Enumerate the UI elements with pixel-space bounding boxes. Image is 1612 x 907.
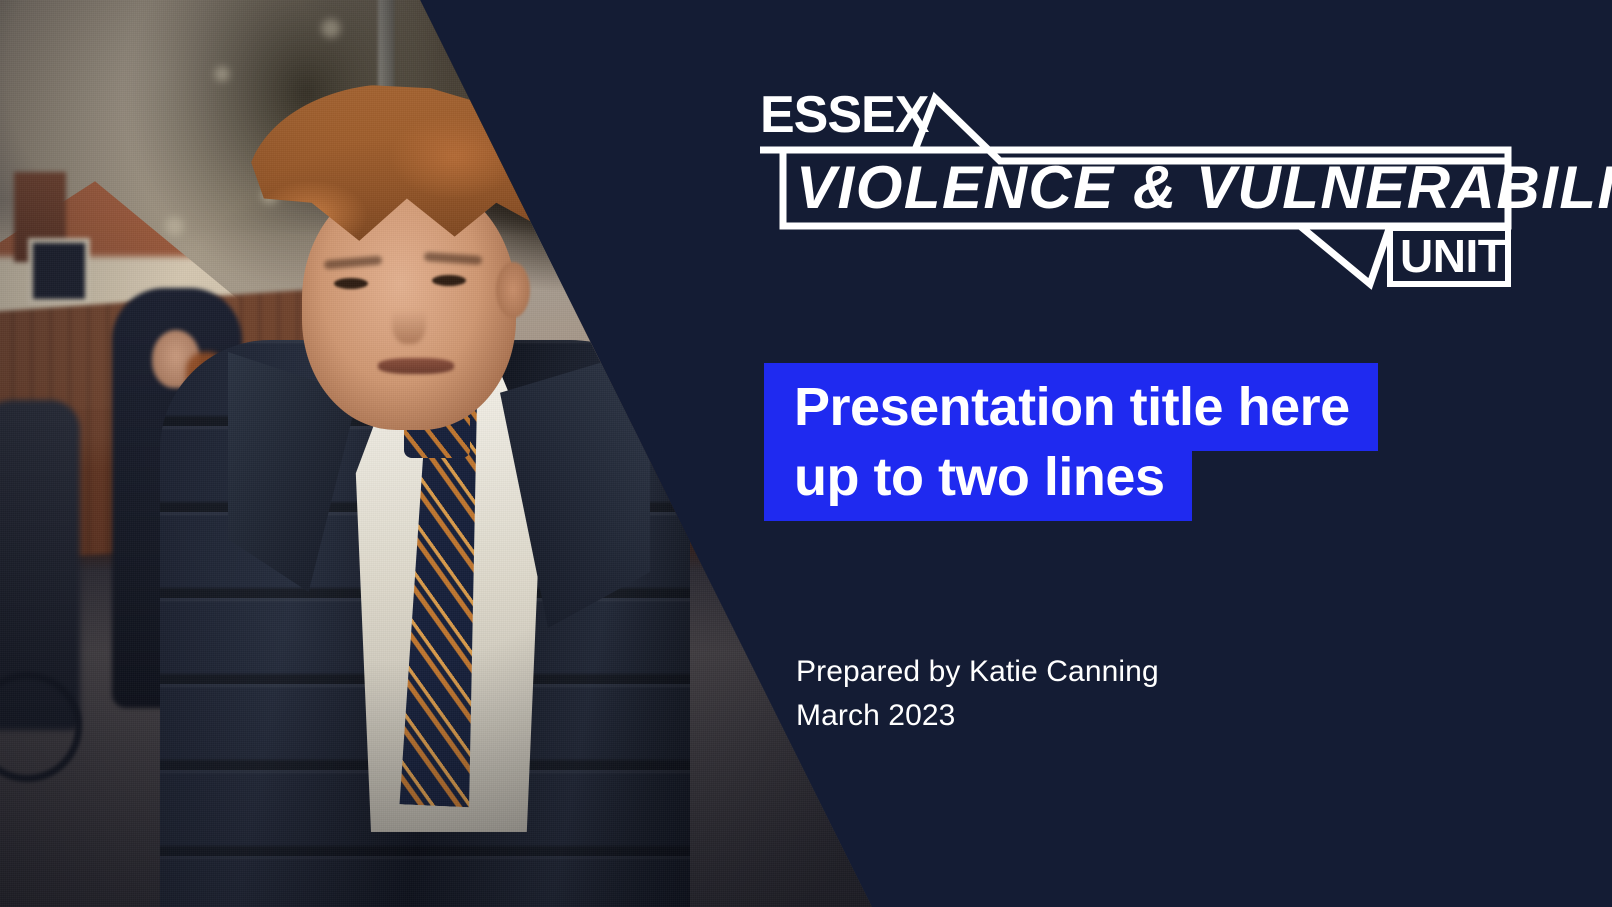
slide-title-line-1: Presentation title here [794,377,1350,437]
photo-subject-mouth [378,358,454,374]
slide-byline: Prepared by Katie Canning March 2023 [796,650,1159,739]
photo-subject-ear [496,262,530,318]
brand-logo: ESSEX VIOLENCE & VULNERABILITY UNIT [760,88,1508,286]
logo-essex-label: ESSEX [760,86,930,144]
presentation-slide: ESSEX VIOLENCE & VULNERABILITY UNIT Pres… [0,0,1612,907]
logo-main-label: VIOLENCE & VULNERABILITY [796,154,1612,221]
photo-window [28,238,90,304]
photo-subject-eye-left [334,278,368,289]
logo-unit-label: UNIT [1400,230,1506,282]
slide-title: Presentation title hereup to two lines [764,363,1378,521]
photo-subject-nose [392,296,426,344]
slide-title-block: Presentation title hereup to two lines [764,372,1464,512]
photo-subject-eye-right [432,275,466,286]
slide-title-line-2: up to two lines [794,447,1164,507]
byline-prepared-by: Prepared by Katie Canning [796,650,1159,694]
byline-date: March 2023 [796,694,1159,738]
